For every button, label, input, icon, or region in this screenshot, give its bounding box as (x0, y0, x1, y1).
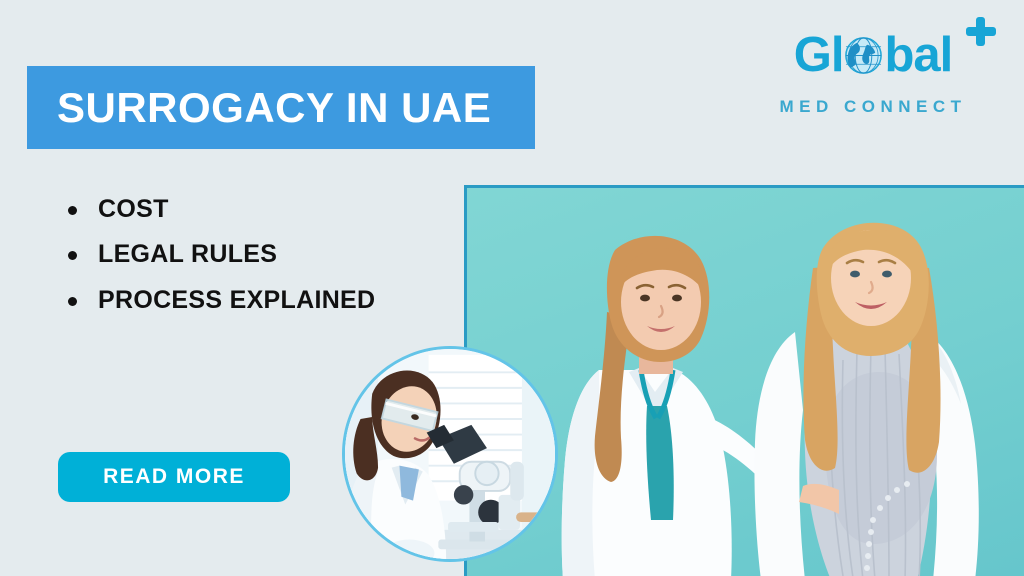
brand-word: Gl bal (794, 31, 953, 80)
lab-scientist-inset-image (342, 346, 558, 562)
brand-logo[interactable]: Gl bal MED CONNECT (744, 14, 1002, 118)
page-title: SURROGACY IN UAE (57, 87, 491, 129)
list-item-label: PROCESS EXPLAINED (98, 286, 375, 314)
list-item: COST (62, 196, 375, 222)
globe-icon (844, 35, 883, 74)
pregnant-woman-figure (747, 204, 997, 576)
brand-word-part-1: Gl (794, 28, 844, 82)
hero-photo-panel (464, 185, 1024, 576)
brand-wordmark: Gl bal (744, 14, 1002, 80)
surrogacy-uae-promo-banner: Gl bal MED CONNECT SURROGACY IN U (0, 0, 1024, 576)
plus-icon (966, 16, 996, 46)
list-item-label: COST (98, 195, 169, 223)
list-item: PROCESS EXPLAINED (62, 287, 375, 313)
brand-word-part-2: bal (884, 28, 952, 82)
page-title-banner: SURROGACY IN UAE (27, 66, 535, 149)
read-more-button[interactable]: READ MORE (58, 452, 290, 502)
brand-tagline: MED CONNECT (744, 98, 1002, 115)
list-item-label: LEGAL RULES (98, 240, 277, 268)
list-item: LEGAL RULES (62, 241, 375, 267)
feature-list: COST LEGAL RULES PROCESS EXPLAINED (62, 196, 375, 332)
